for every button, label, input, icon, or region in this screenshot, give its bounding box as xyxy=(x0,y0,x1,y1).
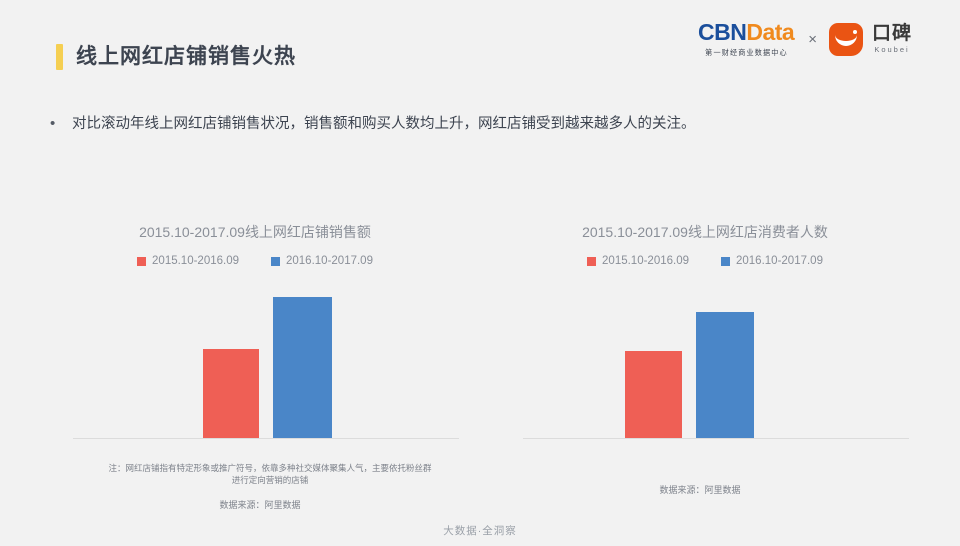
koubei-smile-curve xyxy=(835,32,857,46)
cbndata-wordmark: CBNData xyxy=(698,20,794,45)
legend-label: 2016.10-2017.09 xyxy=(286,255,373,267)
bar-series-1[interactable] xyxy=(625,351,682,438)
chart-legend: 2015.10-2016.09 2016.10-2017.09 xyxy=(495,255,915,267)
koubei-name-cn: 口碑 xyxy=(872,24,912,44)
footnote-line-1: 注：网红店铺指有特定形象或推广符号，依靠多种社交媒体聚集人气，主要依托粉丝群 xyxy=(60,462,480,474)
logo-separator-x: × xyxy=(808,31,817,48)
koubei-eye-dot xyxy=(853,30,857,34)
cbndata-wordmark-data: Data xyxy=(746,19,794,45)
chart-title: 2015.10-2017.09线上网红店铺销售额 xyxy=(45,222,465,242)
legend-label: 2015.10-2016.09 xyxy=(152,255,239,267)
bar-series-2[interactable] xyxy=(273,297,332,438)
legend-label: 2016.10-2017.09 xyxy=(736,255,823,267)
page-title: 线上网红店铺销售火热 xyxy=(56,44,296,70)
chart-sales: 2015.10-2017.09线上网红店铺销售额 2015.10-2016.09… xyxy=(45,222,465,462)
koubei-logo: 口碑 Koubei xyxy=(829,23,912,56)
koubei-wordmark: 口碑 Koubei xyxy=(872,24,912,54)
legend-item[interactable]: 2016.10-2017.09 xyxy=(271,255,373,267)
title-text: 线上网红店铺销售火热 xyxy=(76,44,296,70)
bullet-point: • 对比滚动年线上网红店铺销售状况，销售额和购买人数均上升，网红店铺受到越来越多… xyxy=(50,114,696,134)
watermark: 大数据·全洞察 xyxy=(0,523,960,538)
koubei-smile-icon xyxy=(829,23,863,56)
brand-logos: CBNData 第一财经商业数据中心 × 口碑 Koubei xyxy=(698,17,912,61)
legend-item[interactable]: 2016.10-2017.09 xyxy=(721,255,823,267)
legend-swatch-icon xyxy=(137,257,146,266)
chart-bars xyxy=(495,281,915,438)
bar-series-2[interactable] xyxy=(696,312,754,438)
bullet-text: 对比滚动年线上网红店铺销售状况，销售额和购买人数均上升，网红店铺受到越来越多人的… xyxy=(72,114,696,134)
cbndata-subtitle: 第一财经商业数据中心 xyxy=(705,47,788,57)
chart-footnote: 注：网红店铺指有特定形象或推广符号，依靠多种社交媒体聚集人气，主要依托粉丝群 进… xyxy=(60,462,480,486)
legend-label: 2015.10-2016.09 xyxy=(602,255,689,267)
x-axis-line xyxy=(73,438,459,439)
legend-swatch-icon xyxy=(587,257,596,266)
footnote-line-2: 进行定向营销的店铺 xyxy=(60,474,480,486)
legend-swatch-icon xyxy=(721,257,730,266)
chart-title: 2015.10-2017.09线上网红店消费者人数 xyxy=(495,222,915,242)
chart-legend: 2015.10-2016.09 2016.10-2017.09 xyxy=(45,255,465,267)
cbndata-wordmark-cbn: CBN xyxy=(698,19,746,45)
cbndata-logo: CBNData 第一财经商业数据中心 xyxy=(698,20,794,58)
data-source-right: 数据来源：阿里数据 xyxy=(590,483,810,496)
chart-consumers: 2015.10-2017.09线上网红店消费者人数 2015.10-2016.0… xyxy=(495,222,915,462)
slide: 线上网红店铺销售火热 CBNData 第一财经商业数据中心 × 口碑 Koube… xyxy=(0,0,960,546)
bullet-marker: • xyxy=(50,114,72,134)
title-accent-bar xyxy=(56,44,63,70)
x-axis-line xyxy=(523,438,909,439)
legend-item[interactable]: 2015.10-2016.09 xyxy=(587,255,689,267)
chart-plot-area xyxy=(495,281,915,439)
chart-bars xyxy=(45,281,465,438)
bar-series-1[interactable] xyxy=(203,349,259,438)
slide-header: 线上网红店铺销售火热 CBNData 第一财经商业数据中心 × 口碑 Koube… xyxy=(0,0,960,100)
legend-item[interactable]: 2015.10-2016.09 xyxy=(137,255,239,267)
koubei-name-en: Koubei xyxy=(874,45,909,54)
data-source-left: 数据来源：阿里数据 xyxy=(150,498,370,511)
legend-swatch-icon xyxy=(271,257,280,266)
chart-plot-area xyxy=(45,281,465,439)
